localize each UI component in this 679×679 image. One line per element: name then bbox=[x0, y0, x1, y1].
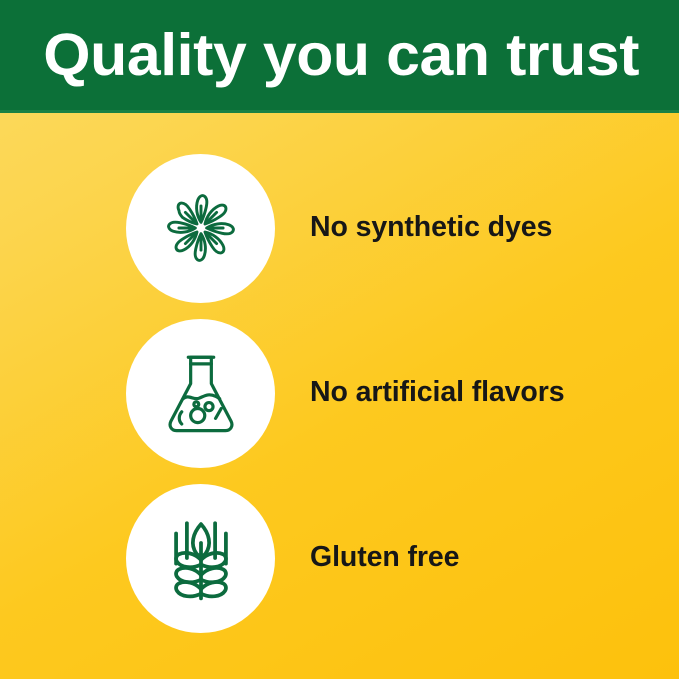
feature-row: No artificial flavors bbox=[0, 310, 679, 476]
feature-row: No synthetic dyes bbox=[0, 145, 679, 311]
feature-label: No artificial flavors bbox=[310, 377, 564, 408]
feature-label: Gluten free bbox=[310, 542, 459, 573]
flask-icon bbox=[154, 346, 248, 440]
icon-badge bbox=[126, 484, 275, 633]
icon-badge bbox=[126, 319, 275, 468]
feature-label: No synthetic dyes bbox=[310, 212, 552, 243]
feature-row: Gluten free bbox=[0, 475, 679, 641]
wheat-icon bbox=[154, 511, 248, 605]
header-banner: Quality you can trust bbox=[0, 0, 679, 113]
icon-badge bbox=[126, 154, 275, 303]
promo-panel: Quality you can trust bbox=[0, 0, 679, 679]
dye-splatter-icon bbox=[154, 181, 248, 275]
feature-list: No synthetic dyes bbox=[0, 113, 679, 679]
page-title: Quality you can trust bbox=[0, 26, 639, 85]
